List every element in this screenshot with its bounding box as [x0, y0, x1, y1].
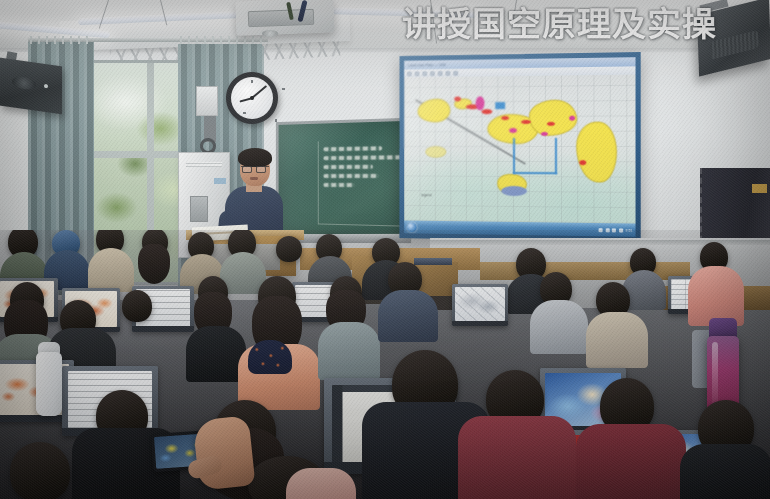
projection-display[interactable]: Land Use Plan — GIS [399, 52, 640, 242]
student-body [318, 322, 380, 380]
road-marker-red [547, 122, 555, 126]
site-marker-magenta [509, 128, 517, 133]
door-sign [752, 184, 767, 193]
site-marker-magenta [541, 132, 548, 136]
hand-holding-phone [192, 415, 255, 490]
laptop[interactable] [452, 284, 508, 326]
student-body-maroon [576, 424, 686, 499]
water-channel-blue [555, 138, 557, 174]
water-channel-blue [495, 102, 505, 109]
laptop-base [452, 321, 508, 326]
wall-clock [226, 72, 278, 124]
student-body [378, 290, 438, 342]
student-body [530, 300, 588, 354]
classroom-photo: Land Use Plan — GIS [0, 0, 770, 499]
clock-tick [251, 80, 253, 83]
chalk-line [324, 183, 355, 187]
clock-center-pin [250, 96, 254, 100]
site-marker-magenta [476, 96, 485, 110]
reservoir-polygon-blue [501, 186, 527, 196]
student-scarf-polka [248, 340, 292, 374]
save-icon[interactable] [415, 71, 420, 76]
blackboard [276, 118, 409, 241]
wall-speaker-left [0, 58, 62, 115]
laptop-screen[interactable] [455, 287, 504, 321]
chalk-writing [324, 146, 404, 218]
student-body [88, 248, 134, 292]
chalk-line [324, 155, 401, 160]
curtain-hooks [180, 36, 266, 44]
student-shoulder-pink [286, 468, 356, 499]
clock-tick [282, 88, 285, 90]
white-shaker-bottle[interactable] [36, 352, 62, 416]
projected-desktop: Land Use Plan — GIS [404, 57, 635, 237]
student-body [680, 444, 770, 499]
speaker-cone-icon [12, 75, 36, 90]
road-marker-red [501, 116, 509, 120]
teacher-mouth [250, 177, 258, 180]
student-body [586, 312, 648, 368]
laptop-base [132, 326, 194, 332]
landuse-polygon-yellow [418, 99, 451, 123]
student-body-pink-top [688, 266, 744, 326]
road-marker-red [454, 97, 461, 102]
student-audience [0, 230, 770, 499]
pan-hand-icon[interactable] [430, 71, 435, 76]
chalk-line [324, 165, 373, 169]
student-body [186, 326, 246, 382]
eyeglass-lens-right [256, 166, 266, 173]
road-marker-red [521, 120, 531, 124]
measure-icon[interactable] [445, 70, 450, 75]
open-icon[interactable] [407, 71, 412, 76]
road-marker-red [579, 160, 586, 165]
curtain-hooks [30, 36, 92, 44]
clock-tick [243, 113, 246, 115]
student-head [276, 236, 302, 262]
water-channel-blue [513, 138, 515, 174]
wall-utility-box [196, 86, 218, 116]
map-legend-label: legend [421, 193, 431, 197]
select-arrow-icon[interactable] [438, 71, 443, 76]
student-head [122, 290, 152, 322]
ac-lower-panel [190, 196, 208, 222]
gis-app-title: Land Use Plan — GIS [408, 62, 446, 67]
speaker-grille-icon [710, 30, 759, 60]
layers-icon[interactable] [453, 70, 458, 75]
zoom-in-icon[interactable] [422, 71, 427, 76]
student-body-maroon [458, 416, 576, 499]
ac-vent-grille-icon [186, 162, 222, 167]
student-head [10, 442, 70, 499]
teacher-hair [238, 148, 272, 167]
road-marker-red [482, 109, 493, 114]
eyeglass-lens-left [242, 166, 252, 173]
chalk-line [324, 174, 379, 178]
student-hair-long [138, 244, 170, 284]
laptop-content-map-gray [455, 287, 504, 321]
ac-display-panel [214, 178, 226, 184]
water-channel-blue [513, 172, 557, 174]
projector-lens-icon [262, 30, 278, 37]
gis-map-canvas[interactable]: legend [404, 75, 635, 224]
landuse-polygon-yellow [425, 146, 446, 158]
speaker-led-icon [44, 84, 48, 89]
chalk-line [324, 146, 383, 151]
caption-overlay-text: 讲授国空原理及实操 [402, 8, 717, 42]
site-marker-magenta [569, 116, 575, 121]
